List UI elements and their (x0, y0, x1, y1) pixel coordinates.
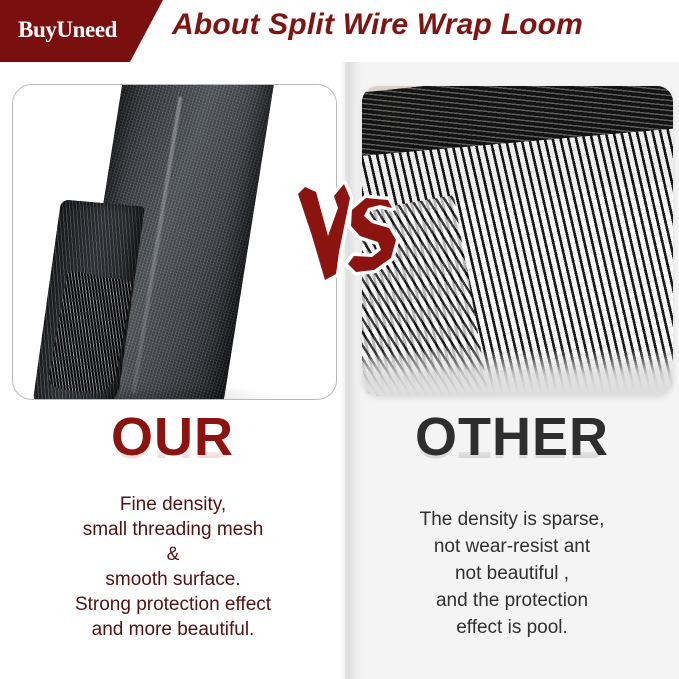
our-description-line: & (14, 542, 332, 567)
other-label-reflection: OTHER (345, 436, 679, 466)
our-description-line: Fine density, (14, 492, 332, 517)
product-comparison-infographic: BuyUneed About Split Wire Wrap Loom (0, 0, 679, 679)
header-bar: BuyUneed About Split Wire Wrap Loom (0, 0, 679, 62)
other-product-photo (362, 86, 673, 396)
our-description: Fine density, small threading mesh & smo… (14, 492, 332, 642)
header-divider (0, 61, 679, 62)
our-description-line: and more beautiful. (14, 617, 332, 642)
brand-logo-text: BuyUneed (18, 17, 117, 43)
our-description-line: smooth surface. (14, 567, 332, 592)
our-description-line: Strong protection effect (14, 592, 332, 617)
our-label-block: OUR OUR (0, 410, 345, 496)
our-label-reflection: OUR (0, 436, 345, 466)
other-description-line: not beautiful , (356, 560, 668, 587)
other-description-line: and the protection (356, 587, 668, 614)
brand-logo-banner: BuyUneed (0, 0, 163, 62)
braided-sleeve-shadow (83, 385, 273, 400)
our-product-photo-frame (12, 84, 337, 400)
other-description-line: not wear-resist ant (356, 533, 668, 560)
our-description-line: small threading mesh (14, 517, 332, 542)
other-label-block: OTHER OTHER (345, 410, 679, 496)
our-product-photo (13, 85, 336, 399)
other-description: The density is sparse, not wear-resist a… (356, 506, 668, 641)
page-title: About Split Wire Wrap Loom (172, 8, 672, 42)
mesh-bottom-fade (362, 348, 673, 396)
other-description-line: effect is pool. (356, 614, 668, 641)
other-description-line: The density is sparse, (356, 506, 668, 533)
other-product-photo-frame (362, 86, 673, 396)
